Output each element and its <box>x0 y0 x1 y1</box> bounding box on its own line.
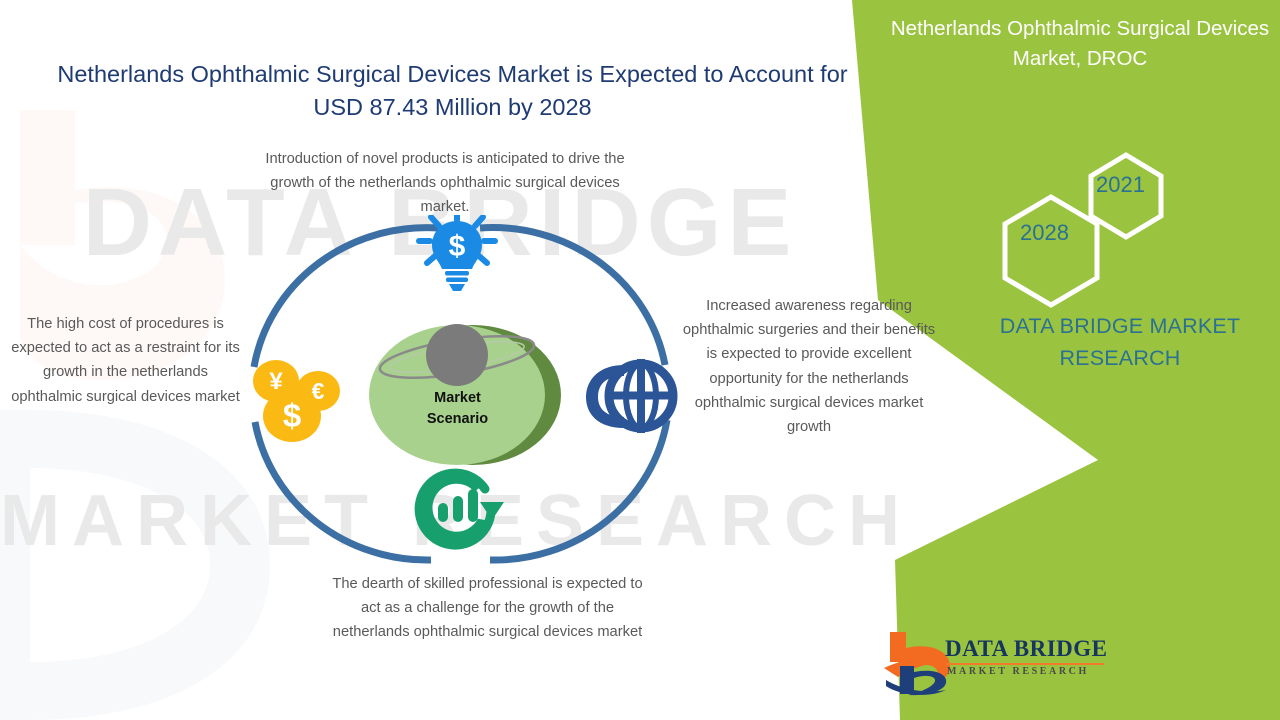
panel-title: Netherlands Ophthalmic Surgical Devices … <box>890 14 1270 74</box>
logo-divider <box>946 663 1104 665</box>
hexagon-2028 <box>1005 197 1097 305</box>
logo-title: DATA BRIDGE <box>945 636 1107 662</box>
infographic-slide: DATA BRIDGE MARKET RESEARCH 2021 2028 Ne… <box>0 0 1280 720</box>
panel-brand: DATA BRIDGE MARKET RESEARCH <box>960 310 1280 374</box>
callout-driver: Introduction of novel products is antici… <box>245 147 645 220</box>
hexagon-2028-label: 2028 <box>1020 220 1069 246</box>
svg-text:$: $ <box>283 397 301 434</box>
callout-challenge: The dearth of skilled professional is ex… <box>325 572 650 645</box>
page-title: Netherlands Ophthalmic Surgical Devices … <box>30 58 875 124</box>
coins-currency-icon: ¥ € $ <box>253 360 340 442</box>
center-label-line1: Market <box>400 388 515 409</box>
growth-chart-arrow-icon <box>415 466 504 549</box>
svg-text:$: $ <box>449 230 466 263</box>
data-bridge-logo: DATA BRIDGE MARKET RESEARCH <box>880 628 1110 700</box>
svg-text:¥: ¥ <box>269 368 283 395</box>
callout-restraint: The high cost of procedures is expected … <box>8 312 243 409</box>
callout-opportunity: Increased awareness regarding ophthalmic… <box>678 294 940 439</box>
hexagon-2021-label: 2021 <box>1096 172 1145 198</box>
center-label-line2: Scenario <box>400 409 515 430</box>
logo-subtitle: MARKET RESEARCH <box>947 666 1089 677</box>
globe-icon <box>586 359 675 433</box>
center-label: Market Scenario <box>400 388 515 430</box>
